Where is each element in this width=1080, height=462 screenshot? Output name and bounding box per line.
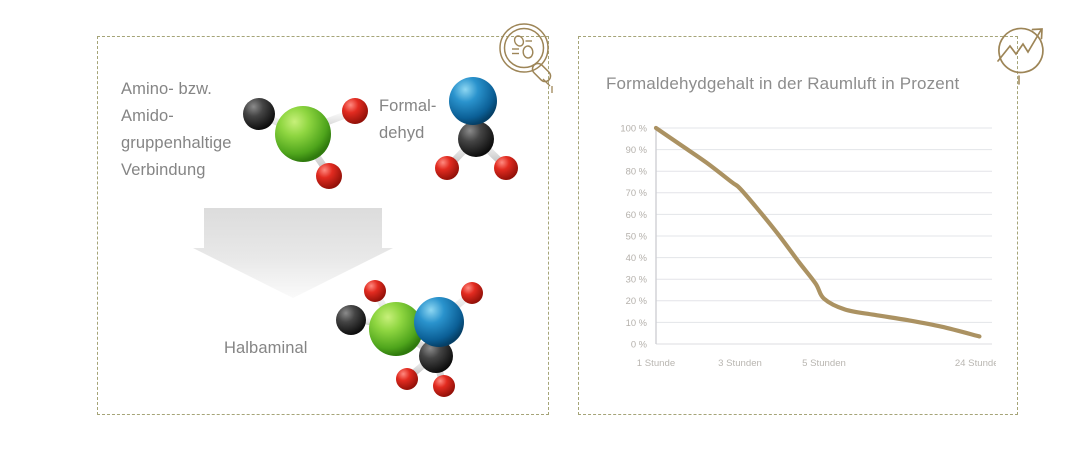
y-axis-tick-label: 60 % <box>626 209 647 220</box>
trend-line-circle-icon <box>988 22 1052 90</box>
x-axis-tick-label: 5 Stunden <box>802 358 846 369</box>
amino-compound-molecule <box>235 82 375 194</box>
magnifier-molecule-icon <box>497 22 565 94</box>
chart-x-axis-labels: 1 Stunde3 Stunden5 Stunden24 Stunden <box>637 358 996 369</box>
x-axis-tick-label: 1 Stunde <box>637 358 675 369</box>
y-axis-tick-label: 10 % <box>626 317 647 328</box>
y-axis-tick-label: 30 % <box>626 274 647 285</box>
y-axis-tick-label: 70 % <box>626 187 647 198</box>
chart-title: Formaldehydgehalt in der Raumluft in Pro… <box>606 74 959 94</box>
y-axis-tick-label: 0 % <box>631 338 647 349</box>
y-axis-tick-label: 80 % <box>626 166 647 177</box>
halbaminal-molecule <box>325 272 505 400</box>
x-axis-tick-label: 24 Stunden <box>955 358 996 369</box>
formaldehyde-decay-chart: 100 %90 %80 %70 %60 %50 %40 %30 %20 %10 … <box>596 118 996 380</box>
chart-y-axis-labels: 100 %90 %80 %70 %60 %50 %40 %30 %20 %10 … <box>620 122 647 349</box>
y-axis-tick-label: 50 % <box>626 230 647 241</box>
y-axis-tick-label: 100 % <box>620 122 647 133</box>
y-axis-tick-label: 40 % <box>626 252 647 263</box>
y-axis-tick-label: 90 % <box>626 144 647 155</box>
x-axis-tick-label: 3 Stunden <box>718 358 762 369</box>
chart-series-line <box>656 128 979 336</box>
y-axis-tick-label: 20 % <box>626 295 647 306</box>
halbaminal-label: Halbaminal <box>224 339 308 358</box>
